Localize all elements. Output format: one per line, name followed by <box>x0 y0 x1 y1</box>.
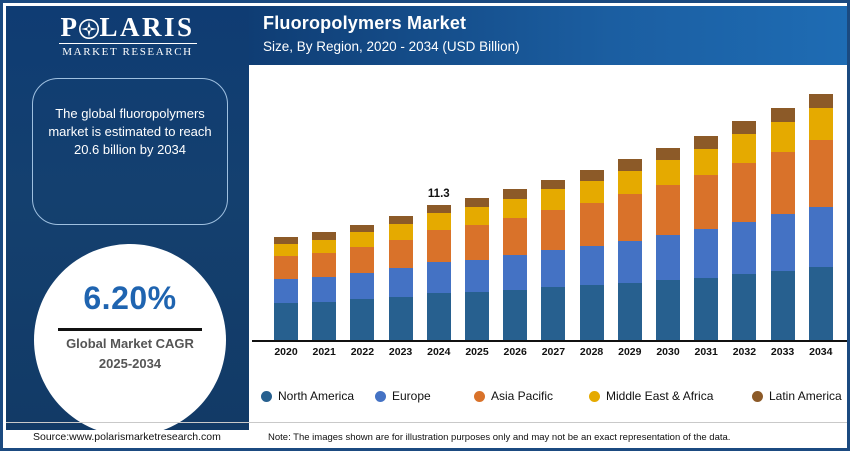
cagr-divider <box>58 328 202 331</box>
bar-segment <box>350 299 374 340</box>
bar-stack <box>771 108 795 340</box>
chart-plot-area: 11.3 20202021202220232024202520262027202… <box>252 65 850 365</box>
bar-segment <box>618 159 642 171</box>
bar-stack <box>656 148 680 340</box>
footer-divider <box>6 422 850 423</box>
bar-segment <box>389 297 413 340</box>
bar-segment <box>503 199 527 218</box>
sidebar-panel: P LARIS MARKET RESEARCH The global fluor… <box>6 6 249 430</box>
bar-stack <box>465 198 489 340</box>
bar-segment <box>274 244 298 256</box>
legend-item[interactable]: North America <box>261 385 354 407</box>
legend-color-dot <box>589 391 600 402</box>
logo-wordmark: P LARIS <box>60 12 194 42</box>
polaris-logo: P LARIS MARKET RESEARCH <box>6 12 249 58</box>
bar-segment <box>465 225 489 260</box>
cagr-label-primary: Global Market CAGR <box>34 336 226 351</box>
infographic-page: P LARIS MARKET RESEARCH The global fluor… <box>0 0 850 451</box>
bar-segment <box>350 247 374 273</box>
bar-segment <box>580 246 604 285</box>
legend-color-dot <box>474 391 485 402</box>
bar-segment <box>809 267 833 340</box>
bar-stack <box>503 189 527 340</box>
bar-segment <box>312 277 336 302</box>
chart-legend: North AmericaEuropeAsia PacificMiddle Ea… <box>252 385 850 407</box>
bar-segment <box>389 240 413 269</box>
bar-segment <box>771 122 795 152</box>
logo-divider <box>59 43 197 44</box>
bar-segment <box>389 216 413 224</box>
bar-segment <box>465 207 489 225</box>
bar-segment <box>618 241 642 283</box>
bar-segment <box>809 207 833 267</box>
bar-segment <box>656 185 680 235</box>
callout-text: The global fluoropolymers market is esti… <box>43 105 217 159</box>
bar-segment <box>694 229 718 278</box>
x-axis-labels: 2020202120222023202420252026202720282029… <box>252 344 850 364</box>
bar-segment <box>312 240 336 253</box>
bar-segment <box>580 181 604 203</box>
bar-segment <box>809 94 833 108</box>
bar-segment <box>312 253 336 277</box>
bar-segment <box>771 108 795 122</box>
bar-segment <box>694 278 718 340</box>
bar-segment <box>274 279 298 303</box>
bar-segment <box>656 160 680 185</box>
bar-segment <box>427 262 451 293</box>
bar-stack <box>694 136 718 340</box>
bar-segment <box>503 290 527 340</box>
bar-segment <box>427 213 451 230</box>
bar-segment <box>541 287 565 340</box>
bar-segment <box>427 293 451 340</box>
legend-item[interactable]: Middle East & Africa <box>589 385 713 407</box>
bar-segment <box>350 273 374 299</box>
bar-segment <box>350 225 374 232</box>
bar-segment <box>541 180 565 190</box>
callout-box: The global fluoropolymers market is esti… <box>32 78 228 225</box>
bar-segment <box>694 149 718 175</box>
bar-segment <box>274 237 298 244</box>
bar-segment <box>350 232 374 246</box>
chart-header: Fluoropolymers Market Size, By Region, 2… <box>249 6 850 65</box>
source-text: Source:www.polarismarketresearch.com <box>33 431 221 443</box>
bar-segment <box>503 218 527 255</box>
cagr-circle: 6.20% Global Market CAGR 2025-2034 <box>34 244 226 430</box>
legend-item[interactable]: Europe <box>375 385 431 407</box>
legend-color-dot <box>261 391 272 402</box>
legend-label: Latin America <box>769 389 842 403</box>
bar-segment <box>732 274 756 340</box>
legend-item[interactable]: Latin America <box>752 385 842 407</box>
logo-text-rest: LARIS <box>99 12 194 42</box>
legend-label: Middle East & Africa <box>606 389 713 403</box>
bar-stack <box>312 232 336 340</box>
legend-color-dot <box>375 391 386 402</box>
bar-segment <box>656 235 680 280</box>
bar-segment <box>503 189 527 199</box>
bar-segment <box>274 256 298 279</box>
bar-stack <box>389 216 413 340</box>
bar-segment <box>389 224 413 240</box>
bar-segment <box>312 232 336 239</box>
bar-series-container: 11.3 <box>252 65 850 340</box>
x-axis-tick-label: 2034 <box>798 346 844 358</box>
bar-stack <box>350 225 374 340</box>
bar-segment <box>580 203 604 246</box>
bar-segment <box>809 108 833 140</box>
bar-stack <box>274 237 298 340</box>
legend-color-dot <box>752 391 763 402</box>
bar-segment <box>618 194 642 241</box>
bar-segment <box>618 283 642 340</box>
logo-tagline: MARKET RESEARCH <box>6 46 249 58</box>
legend-label: North America <box>278 389 354 403</box>
page-title: Fluoropolymers Market <box>263 13 466 34</box>
bar-segment <box>580 170 604 181</box>
compass-star-icon <box>79 15 99 35</box>
bar-segment <box>503 255 527 290</box>
bar-stack <box>618 159 642 340</box>
legend-label: Asia Pacific <box>491 389 553 403</box>
bar-segment <box>274 303 298 340</box>
bar-value-label: 11.3 <box>416 188 462 200</box>
bar-stack <box>809 94 833 340</box>
bar-segment <box>541 210 565 251</box>
bar-stack <box>732 121 756 340</box>
bar-segment <box>465 260 489 292</box>
page-subtitle: Size, By Region, 2020 - 2034 (USD Billio… <box>263 39 520 54</box>
x-axis-line <box>252 340 850 342</box>
legend-item[interactable]: Asia Pacific <box>474 385 553 407</box>
bar-stack <box>541 180 565 340</box>
bar-segment <box>389 268 413 297</box>
bar-segment <box>809 140 833 207</box>
bar-stack <box>580 170 604 340</box>
bar-segment <box>541 250 565 287</box>
bar-segment <box>732 121 756 134</box>
bar-segment <box>465 198 489 208</box>
cagr-value: 6.20% <box>34 280 226 317</box>
bar-segment <box>732 163 756 222</box>
bar-segment <box>541 189 565 209</box>
bar-stack <box>427 205 451 340</box>
bar-segment <box>618 171 642 194</box>
note-text: Note: The images shown are for illustrat… <box>268 432 730 443</box>
bar-segment <box>427 230 451 262</box>
bar-segment <box>656 148 680 160</box>
bar-segment <box>465 292 489 340</box>
bar-segment <box>580 285 604 340</box>
cagr-label-period: 2025-2034 <box>34 356 226 371</box>
bar-segment <box>771 214 795 270</box>
logo-text-first: P <box>60 12 79 42</box>
bar-segment <box>771 152 795 214</box>
bar-segment <box>312 302 336 340</box>
bar-segment <box>694 136 718 149</box>
bar-segment <box>732 134 756 163</box>
bar-segment <box>694 175 718 229</box>
bar-segment <box>732 222 756 275</box>
bar-segment <box>656 280 680 340</box>
bar-segment <box>771 271 795 340</box>
legend-label: Europe <box>392 389 431 403</box>
bar-segment <box>427 205 451 213</box>
